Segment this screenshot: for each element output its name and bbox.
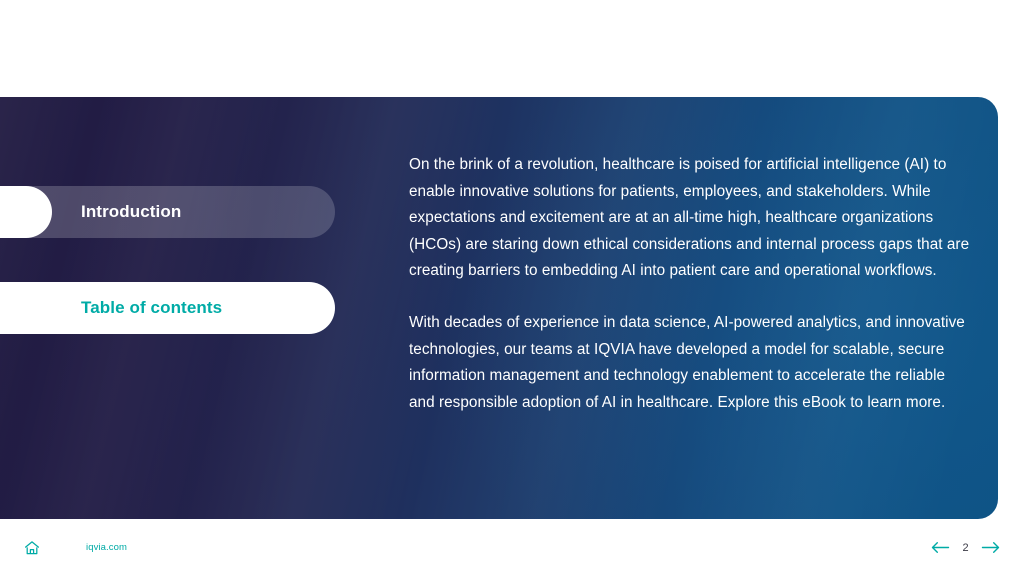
home-icon[interactable] — [24, 540, 40, 556]
intro-body-text: On the brink of a revolution, healthcare… — [409, 152, 975, 416]
nav-item-label: Table of contents — [81, 298, 222, 318]
paragraph-2: With decades of experience in data scien… — [409, 310, 975, 416]
nav-item-active-marker — [0, 186, 52, 238]
nav-item-introduction[interactable]: Introduction — [0, 186, 335, 238]
nav-item-table-of-contents[interactable]: Table of contents — [0, 282, 335, 334]
nav-item-label: Introduction — [81, 202, 181, 222]
footer-pager: 2 — [931, 519, 1000, 576]
page-number: 2 — [961, 542, 970, 554]
page-footer: iqvia.com 2 — [0, 519, 1024, 576]
footer-left-group: iqvia.com — [24, 519, 127, 576]
arrow-left-icon[interactable] — [931, 541, 950, 554]
paragraph-1: On the brink of a revolution, healthcare… — [409, 152, 975, 285]
arrow-right-icon[interactable] — [981, 541, 1000, 554]
site-url-link[interactable]: iqvia.com — [86, 542, 127, 553]
slide-canvas: Introduction Table of contents On the br… — [0, 0, 1024, 576]
